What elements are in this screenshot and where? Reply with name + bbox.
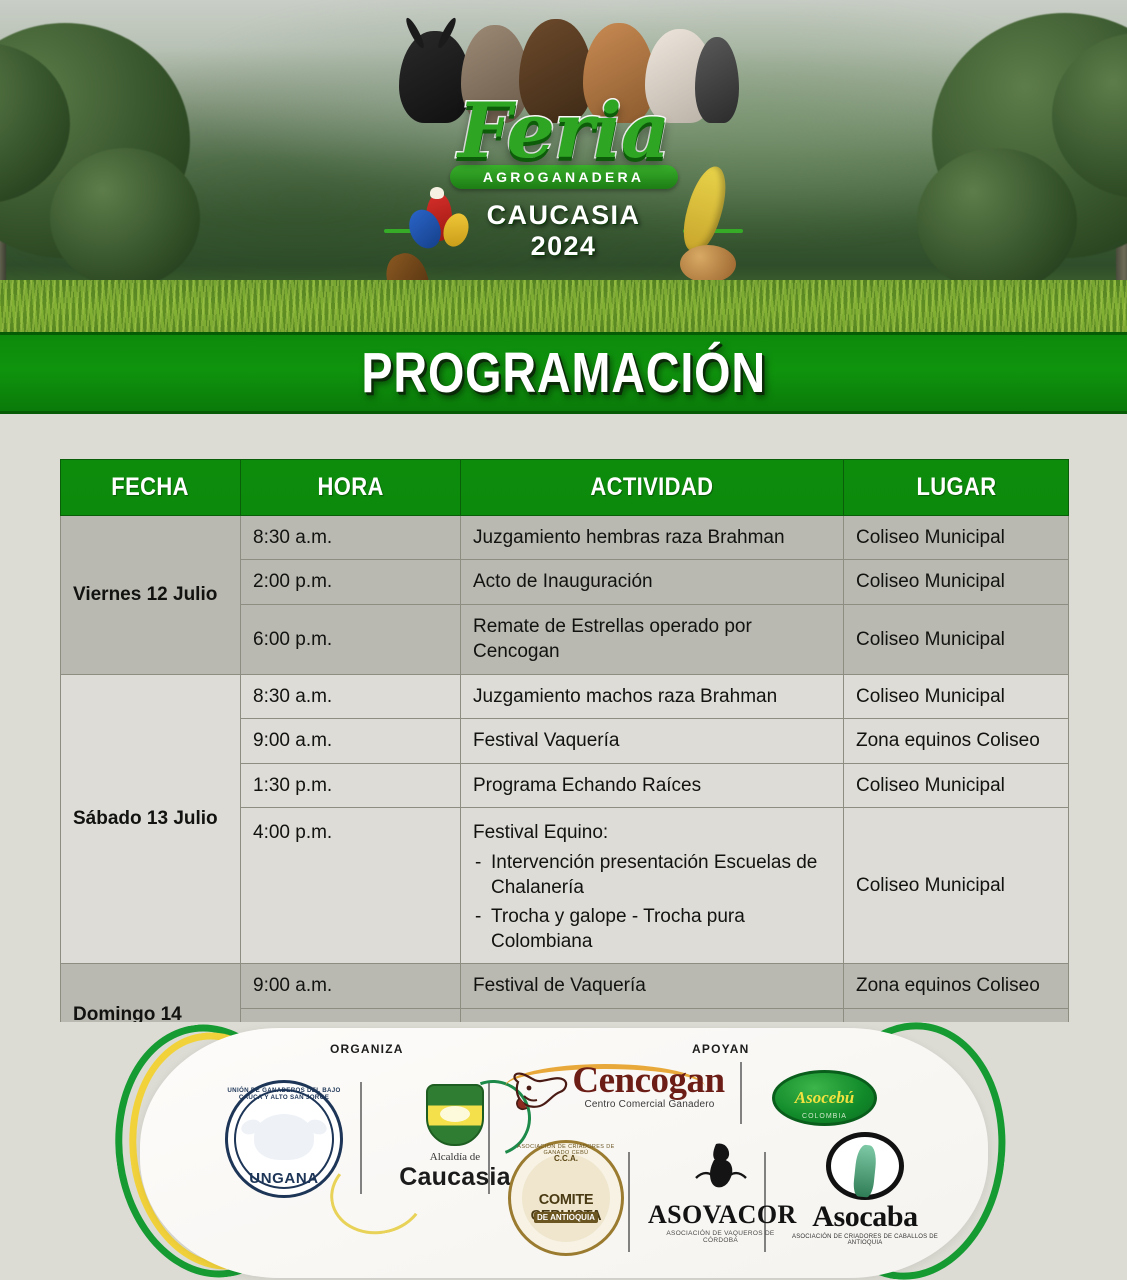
cell-hora: 8:30 a.m. xyxy=(241,516,461,560)
organiza-label: ORGANIZA xyxy=(330,1042,404,1056)
schedule-section: FECHA HORA ACTIVIDAD LUGAR Viernes 12 Ju… xyxy=(0,414,1127,1022)
cencogan-name: Cencogan xyxy=(572,1062,725,1099)
cell-actividad: Remate de Estrellas operado por Cencogan xyxy=(461,604,844,674)
asovacor-sub: ASOCIACIÓN DE VAQUEROS DE CÓRDOBA xyxy=(648,1230,793,1244)
column-header-hora: HORA xyxy=(241,460,461,516)
table-header-row: FECHA HORA ACTIVIDAD LUGAR xyxy=(61,460,1069,516)
horse-leg-icon xyxy=(826,1132,904,1200)
cell-actividad: Acto de Inauguración xyxy=(461,560,844,604)
ungana-name: UNGANA xyxy=(225,1170,343,1187)
logo-asovacor: ASOVACOR ASOCIACIÓN DE VAQUEROS DE CÓRDO… xyxy=(648,1140,793,1244)
logo-asocebu: Asocebú COLOMBIA xyxy=(772,1070,877,1126)
asocaba-name: Asocaba xyxy=(790,1200,940,1234)
cell-actividad: Festival Equino: Intervención presentaci… xyxy=(461,808,844,964)
asocebu-name: Asocebú xyxy=(772,1088,877,1108)
cell-hora: 9:00 a.m. xyxy=(241,719,461,763)
cell-lugar: Coliseo Municipal xyxy=(844,808,1069,964)
cell-actividad: Festival Vaquería xyxy=(461,719,844,763)
table-row: Domingo 14 Julio 9:00 a.m. Festival de V… xyxy=(61,964,1069,1008)
tree-right-icon xyxy=(882,0,1127,298)
cell-actividad: Juzgamiento machos raza Brahman xyxy=(461,674,844,718)
page-title: PROGRAMACIÓN xyxy=(361,340,766,406)
column-header-actividad: ACTIVIDAD xyxy=(461,460,844,516)
cell-fecha: Viernes 12 Julio xyxy=(61,516,241,675)
rider-icon xyxy=(692,1140,750,1200)
bull-head-icon xyxy=(510,1068,572,1120)
asocaba-sub: ASOCIACIÓN DE CRIADORES DE CABALLOS DE A… xyxy=(790,1234,940,1246)
hero-banner: Feria AGROGANADERA CAUCASIA 2024 11AL14D… xyxy=(0,0,1127,332)
activity-sublist: Intervención presentación Escuelas de Ch… xyxy=(473,850,831,955)
agroganadera-label: AGROGANADERA xyxy=(483,169,644,185)
cell-hora: 1:30 p.m. xyxy=(241,763,461,807)
agroganadera-bar: AGROGANADERA xyxy=(450,165,678,189)
cell-lugar: Zona equinos Coliseo xyxy=(844,964,1069,1008)
cell-lugar: Coliseo Municipal xyxy=(844,763,1069,807)
cell-lugar: Zona equinos Coliseo xyxy=(844,719,1069,763)
apoyan-label: APOYAN xyxy=(692,1042,749,1056)
ungana-ring-text: UNIÓN DE GANADEROS DEL BAJO CAUCA Y ALTO… xyxy=(225,1087,343,1101)
feria-wordmark: Feria xyxy=(384,95,744,167)
cell-hora: 4:00 p.m. xyxy=(241,808,461,964)
cell-lugar: Coliseo Municipal xyxy=(844,560,1069,604)
bread-icon xyxy=(680,245,736,283)
alcaldia-small-label: Alcaldía de xyxy=(385,1151,525,1163)
asovacor-name: ASOVACOR xyxy=(648,1200,793,1230)
sponsors-footer: ORGANIZA APOYAN UNIÓN DE GANADEROS DEL B… xyxy=(0,1022,1127,1280)
activity-sublist-item: Trocha y galope - Trocha pura Colombiana xyxy=(473,904,831,955)
activity-heading: Festival Equino: xyxy=(473,820,831,845)
poster-page: Feria AGROGANADERA CAUCASIA 2024 11AL14D… xyxy=(0,0,1127,1280)
cell-actividad: Programa Echando Raíces xyxy=(461,763,844,807)
comite-cca-label: C.C.A. xyxy=(508,1154,624,1163)
cell-lugar: Coliseo Municipal xyxy=(844,604,1069,674)
table-row: Sábado 13 Julio 8:30 a.m. Juzgamiento ma… xyxy=(61,674,1069,718)
logo-comite-cebuista: ASOCIACIÓN DE CRIADORES DE GANADO CEBÚ C… xyxy=(508,1140,624,1256)
cell-hora: 9:00 a.m. xyxy=(241,964,461,1008)
column-header-fecha-label: FECHA xyxy=(112,473,190,502)
column-header-lugar: LUGAR xyxy=(844,460,1069,516)
logo-ungana: UNIÓN DE GANADEROS DEL BAJO CAUCA Y ALTO… xyxy=(225,1080,343,1198)
alcaldia-city-label: Caucasia xyxy=(385,1163,525,1192)
column-header-hora-label: HORA xyxy=(317,473,383,502)
logo-asocaba: Asocaba ASOCIACIÓN DE CRIADORES DE CABAL… xyxy=(790,1132,940,1246)
cell-lugar: Coliseo Municipal xyxy=(844,516,1069,560)
cencogan-sub: Centro Comercial Ganadero xyxy=(574,1099,725,1110)
grass-strip xyxy=(0,280,1127,332)
parrot-icon xyxy=(408,183,480,269)
cell-hora: 2:00 p.m. xyxy=(241,560,461,604)
logo-cencogan: Cencogan Centro Comercial Ganadero xyxy=(510,1062,725,1110)
table-row: Viernes 12 Julio 8:30 a.m. Juzgamiento h… xyxy=(61,516,1069,560)
asocebu-sub: COLOMBIA xyxy=(772,1113,877,1120)
tree-left-icon xyxy=(0,0,230,298)
divider-3 xyxy=(740,1062,742,1124)
column-header-actividad-label: ACTIVIDAD xyxy=(591,473,714,502)
column-header-fecha: FECHA xyxy=(61,460,241,516)
cell-hora: 8:30 a.m. xyxy=(241,674,461,718)
cell-hora: 6:00 p.m. xyxy=(241,604,461,674)
divider-4 xyxy=(628,1152,630,1252)
cow-head-icon xyxy=(254,1114,314,1160)
caucasia-crest-icon xyxy=(426,1084,484,1146)
logo-alcaldia-caucasia: Alcaldía de Caucasia xyxy=(385,1084,525,1192)
programacion-title-bar: PROGRAMACIÓN xyxy=(0,332,1127,414)
cell-lugar: Coliseo Municipal xyxy=(844,674,1069,718)
comite-region: DE ANTIOQUIA xyxy=(534,1212,598,1223)
cell-actividad: Juzgamiento hembras raza Brahman xyxy=(461,516,844,560)
cell-fecha: Sábado 13 Julio xyxy=(61,674,241,964)
caucasia-year-label: CAUCASIA 2024 xyxy=(453,200,674,262)
column-header-lugar-label: LUGAR xyxy=(916,473,996,502)
cell-actividad: Festival de Vaquería xyxy=(461,964,844,1008)
activity-sublist-item: Intervención presentación Escuelas de Ch… xyxy=(473,850,831,901)
